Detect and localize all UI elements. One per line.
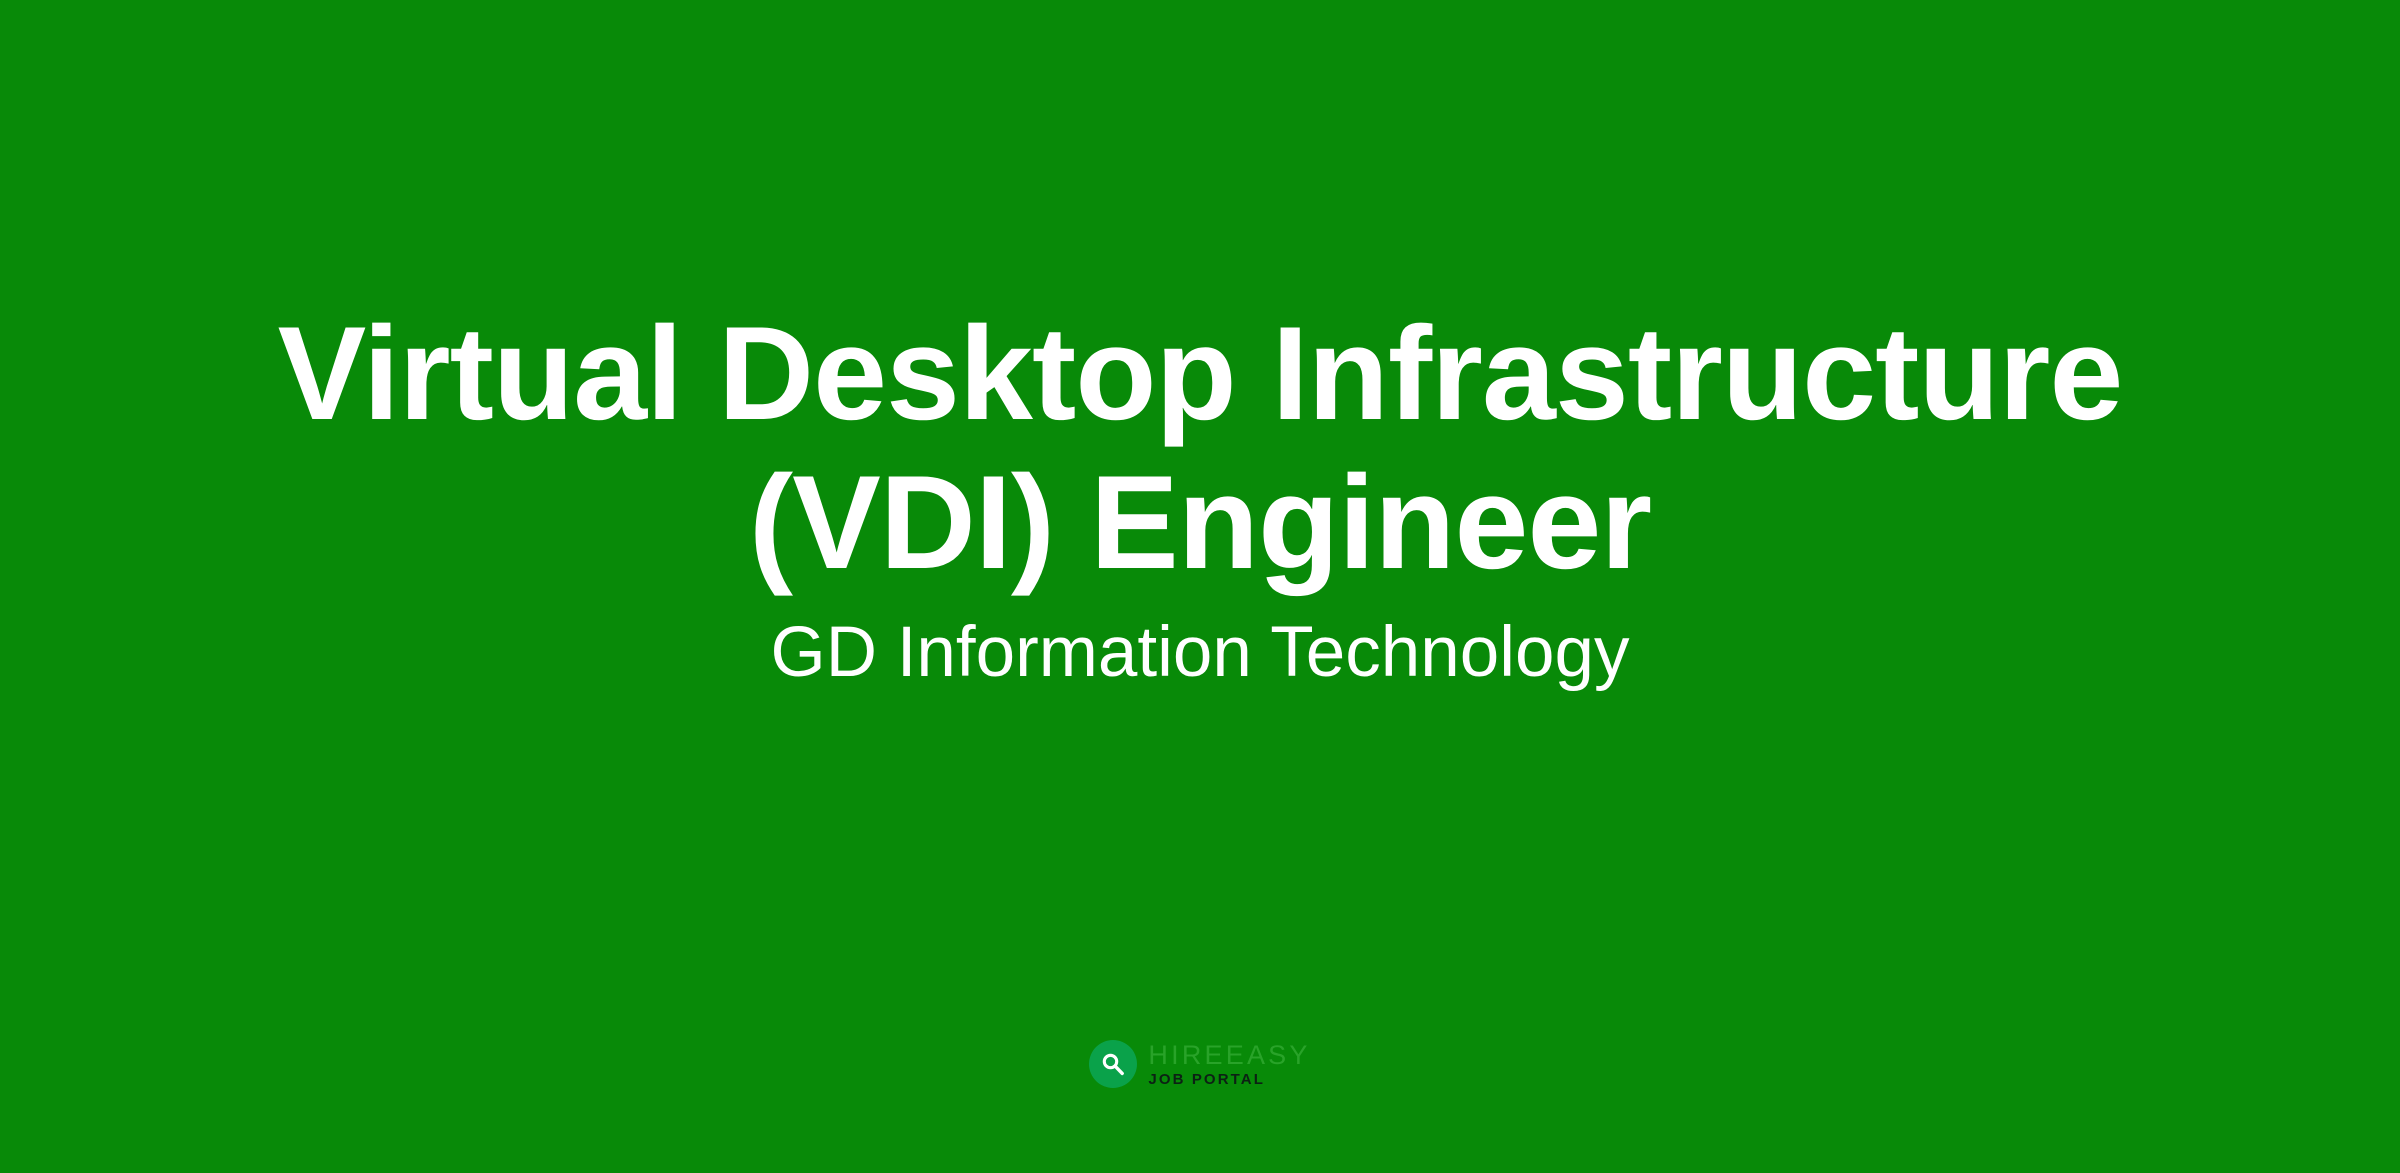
magnifier-icon: [1100, 1051, 1126, 1077]
company-name: GD Information Technology: [0, 598, 2400, 695]
logo-text-group: HIREEASY JOB PORTAL: [1148, 1042, 1310, 1087]
logo-wordmark: HIREEASY: [1148, 1042, 1310, 1069]
hireeasy-logo[interactable]: HIREEASY JOB PORTAL: [0, 1040, 2400, 1088]
logo-badge: [1089, 1040, 1137, 1088]
job-heading-block: Virtual Desktop Infrastructure (VDI) Eng…: [0, 300, 2400, 695]
job-share-card: Virtual Desktop Infrastructure (VDI) Eng…: [0, 0, 2400, 1173]
job-title: Virtual Desktop Infrastructure (VDI) Eng…: [0, 300, 2400, 598]
logo-tagline: JOB PORTAL: [1148, 1072, 1310, 1087]
